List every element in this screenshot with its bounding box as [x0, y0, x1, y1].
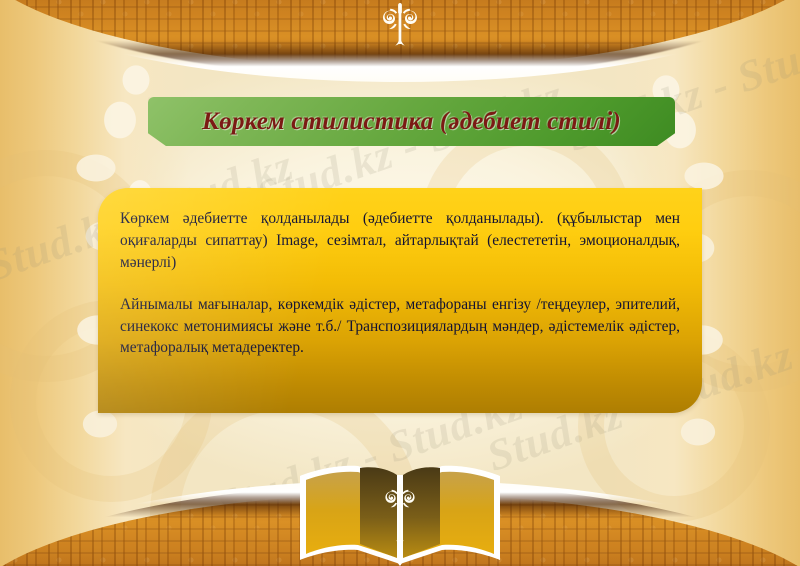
body-paragraph-2: Айнымалы мағыналар, көркемдік әдістер, м…	[120, 294, 680, 360]
slide-title: Көркем стилистика (әдебиет стилі)	[202, 108, 621, 136]
presentation-slide: Stud.kz - Stud.kz Stud.kz - Stud.kz Stud…	[0, 0, 800, 566]
slide-title-bar: Көркем стилистика (әдебиет стилі)	[148, 97, 675, 146]
kazakh-ornament-icon	[368, 2, 432, 46]
open-book-icon	[298, 458, 502, 566]
body-paragraph-1: Көркем әдебиетте қолданылады (әдебиетте …	[120, 208, 680, 274]
content-panel: Көркем әдебиетте қолданылады (әдебиетте …	[98, 188, 702, 413]
